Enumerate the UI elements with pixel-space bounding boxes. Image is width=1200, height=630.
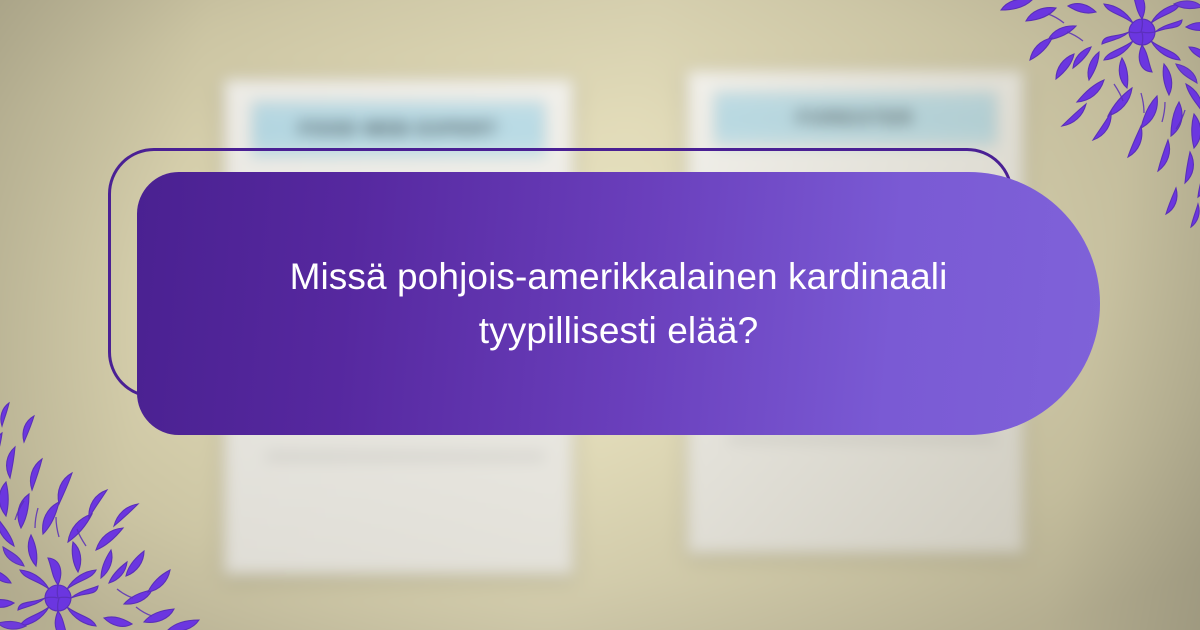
question-line-1: Missä pohjois-amerikkalainen kardinaali xyxy=(290,256,948,297)
question-banner: Missä pohjois-amerikkalainen kardinaali … xyxy=(137,172,1100,435)
question-line-2: tyypillisesti elää? xyxy=(479,310,759,351)
question-text: Missä pohjois-amerikkalainen kardinaali … xyxy=(219,250,1019,357)
quiz-card-stage: FOOD WEB EXPERT FORESTER xyxy=(0,0,1200,630)
